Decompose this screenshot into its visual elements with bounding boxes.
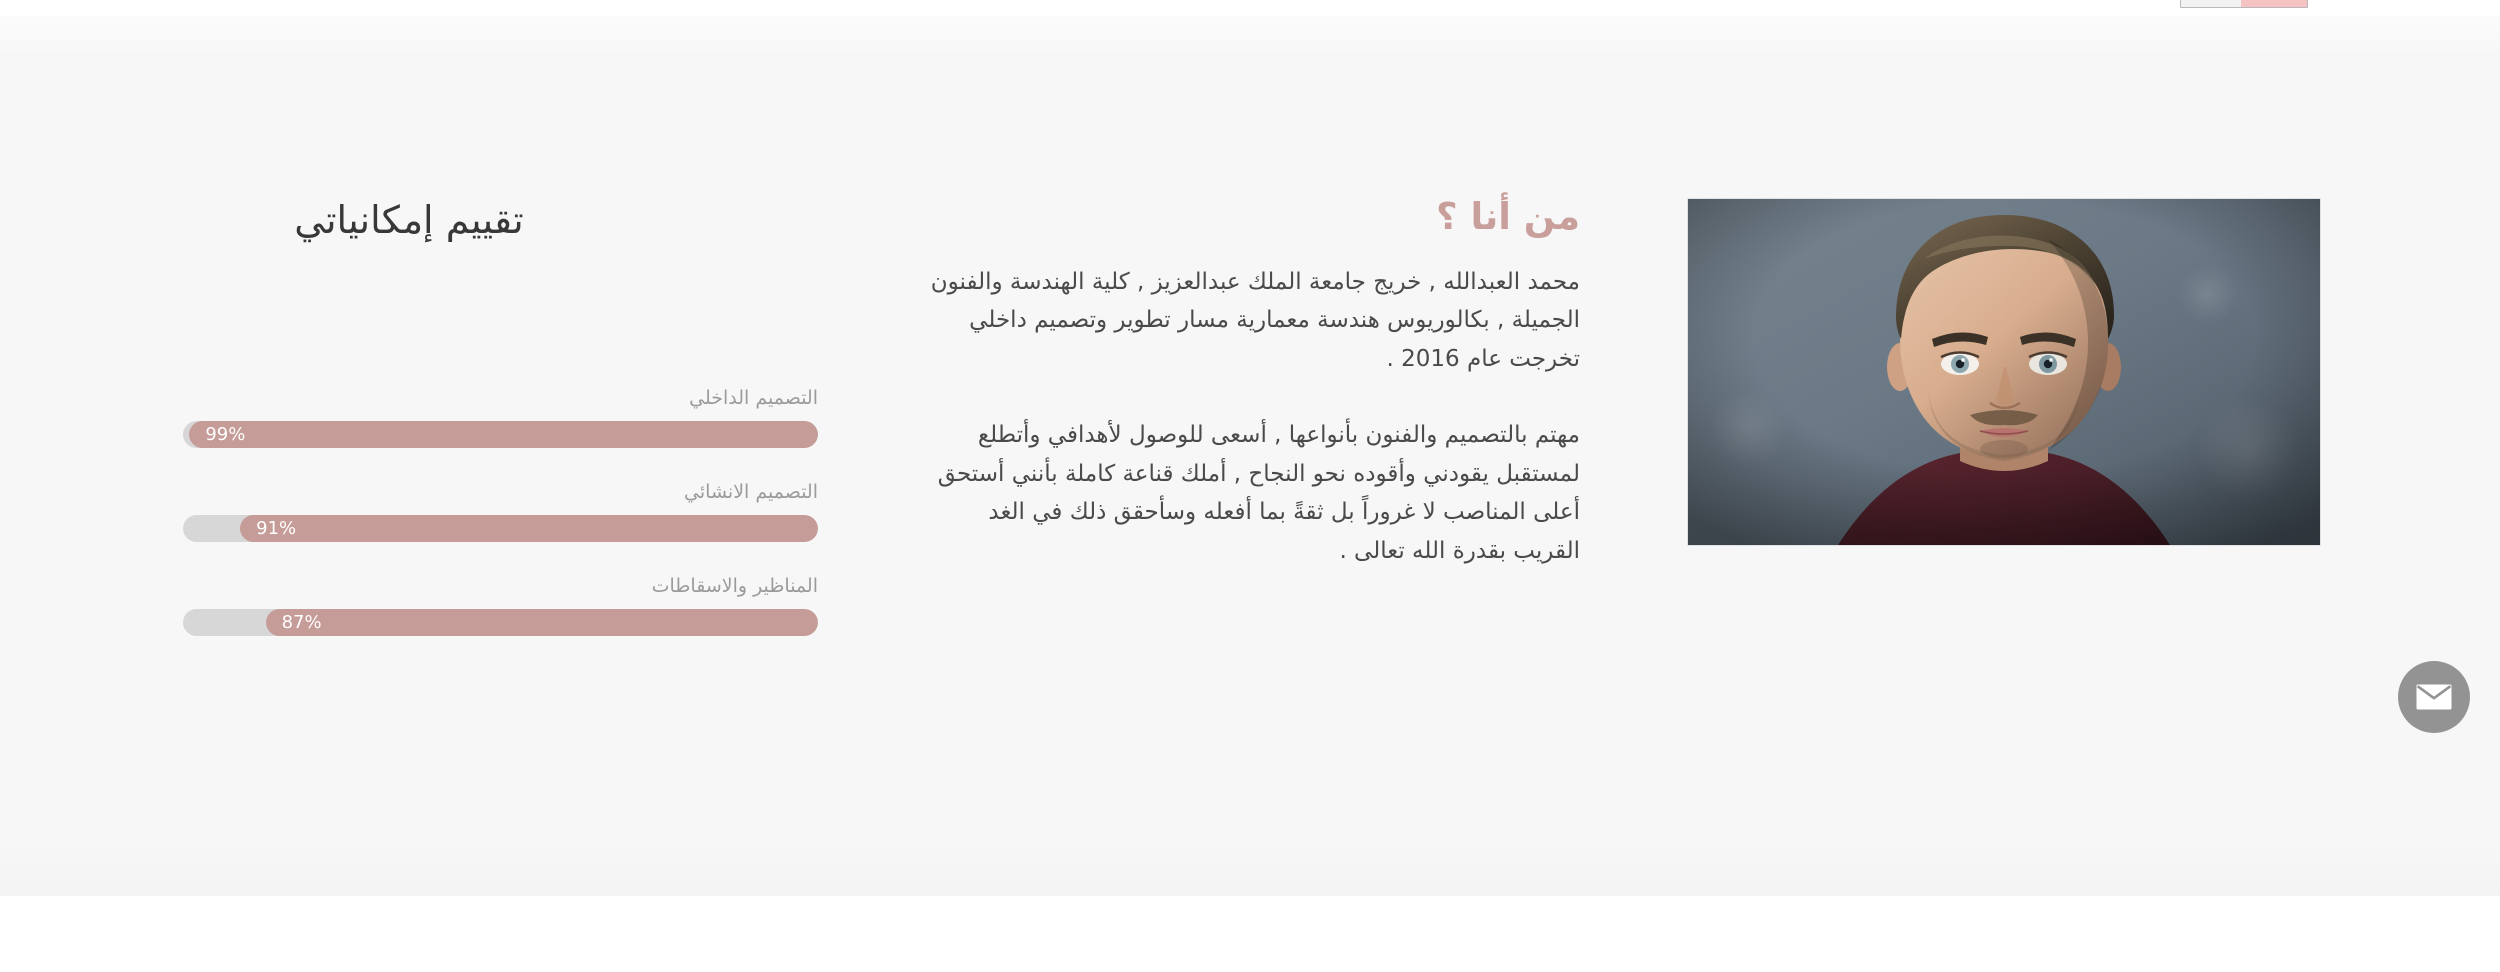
skill-bar-fill: 87% <box>266 609 818 636</box>
portrait-illustration <box>1688 199 2320 545</box>
skills-list: التصميم الداخلي 99% التصميم الانشائي 91% <box>183 386 818 636</box>
portrait-photo <box>1688 199 2320 545</box>
page-progress-bar[interactable] <box>2180 0 2308 8</box>
skills-title: تقييم إمكانياتي <box>0 198 818 242</box>
portrait-photo-frame <box>1687 198 2321 546</box>
skill-bar-value: 99% <box>189 421 245 448</box>
about-section: تقييم إمكانياتي التصميم الداخلي 99% التص… <box>0 16 2500 896</box>
skill-bar-fill: 99% <box>189 421 818 448</box>
skill-bar-track[interactable]: 99% <box>183 421 818 448</box>
skill-bar-value: 87% <box>266 609 322 636</box>
bottom-white-area <box>0 896 2500 972</box>
page-progress-fill <box>2241 0 2307 7</box>
about-me-page: تقييم إمكانياتي التصميم الداخلي 99% التص… <box>0 0 2500 972</box>
about-paragraph: محمد العبدالله , خريج جامعة الملك عبدالع… <box>920 263 1580 379</box>
skill-label: التصميم الداخلي <box>183 386 818 410</box>
section-inner: تقييم إمكانياتي التصميم الداخلي 99% التص… <box>0 16 2500 896</box>
about-title: من أنا ؟ <box>920 196 1580 239</box>
top-white-strip <box>0 0 2500 16</box>
about-column: من أنا ؟ محمد العبدالله , خريج جامعة الم… <box>920 196 1580 570</box>
skill-bar-track[interactable]: 87% <box>183 609 818 636</box>
skill-label: التصميم الانشائي <box>183 480 818 504</box>
contact-mail-fab[interactable] <box>2398 661 2470 733</box>
skill-item: التصميم الانشائي 91% <box>183 480 818 542</box>
skill-bar-track[interactable]: 91% <box>183 515 818 542</box>
skill-label: المناظير والاسقاطات <box>183 574 818 598</box>
about-paragraph: مهتم بالتصميم والفنون بأنواعها , أسعى لل… <box>920 416 1580 570</box>
envelope-icon <box>2416 684 2452 710</box>
skill-bar-value: 91% <box>240 515 296 542</box>
skill-item: التصميم الداخلي 99% <box>183 386 818 448</box>
skill-bar-fill: 91% <box>240 515 818 542</box>
skill-item: المناظير والاسقاطات 87% <box>183 574 818 636</box>
skills-column: تقييم إمكانياتي التصميم الداخلي 99% التص… <box>0 16 880 896</box>
